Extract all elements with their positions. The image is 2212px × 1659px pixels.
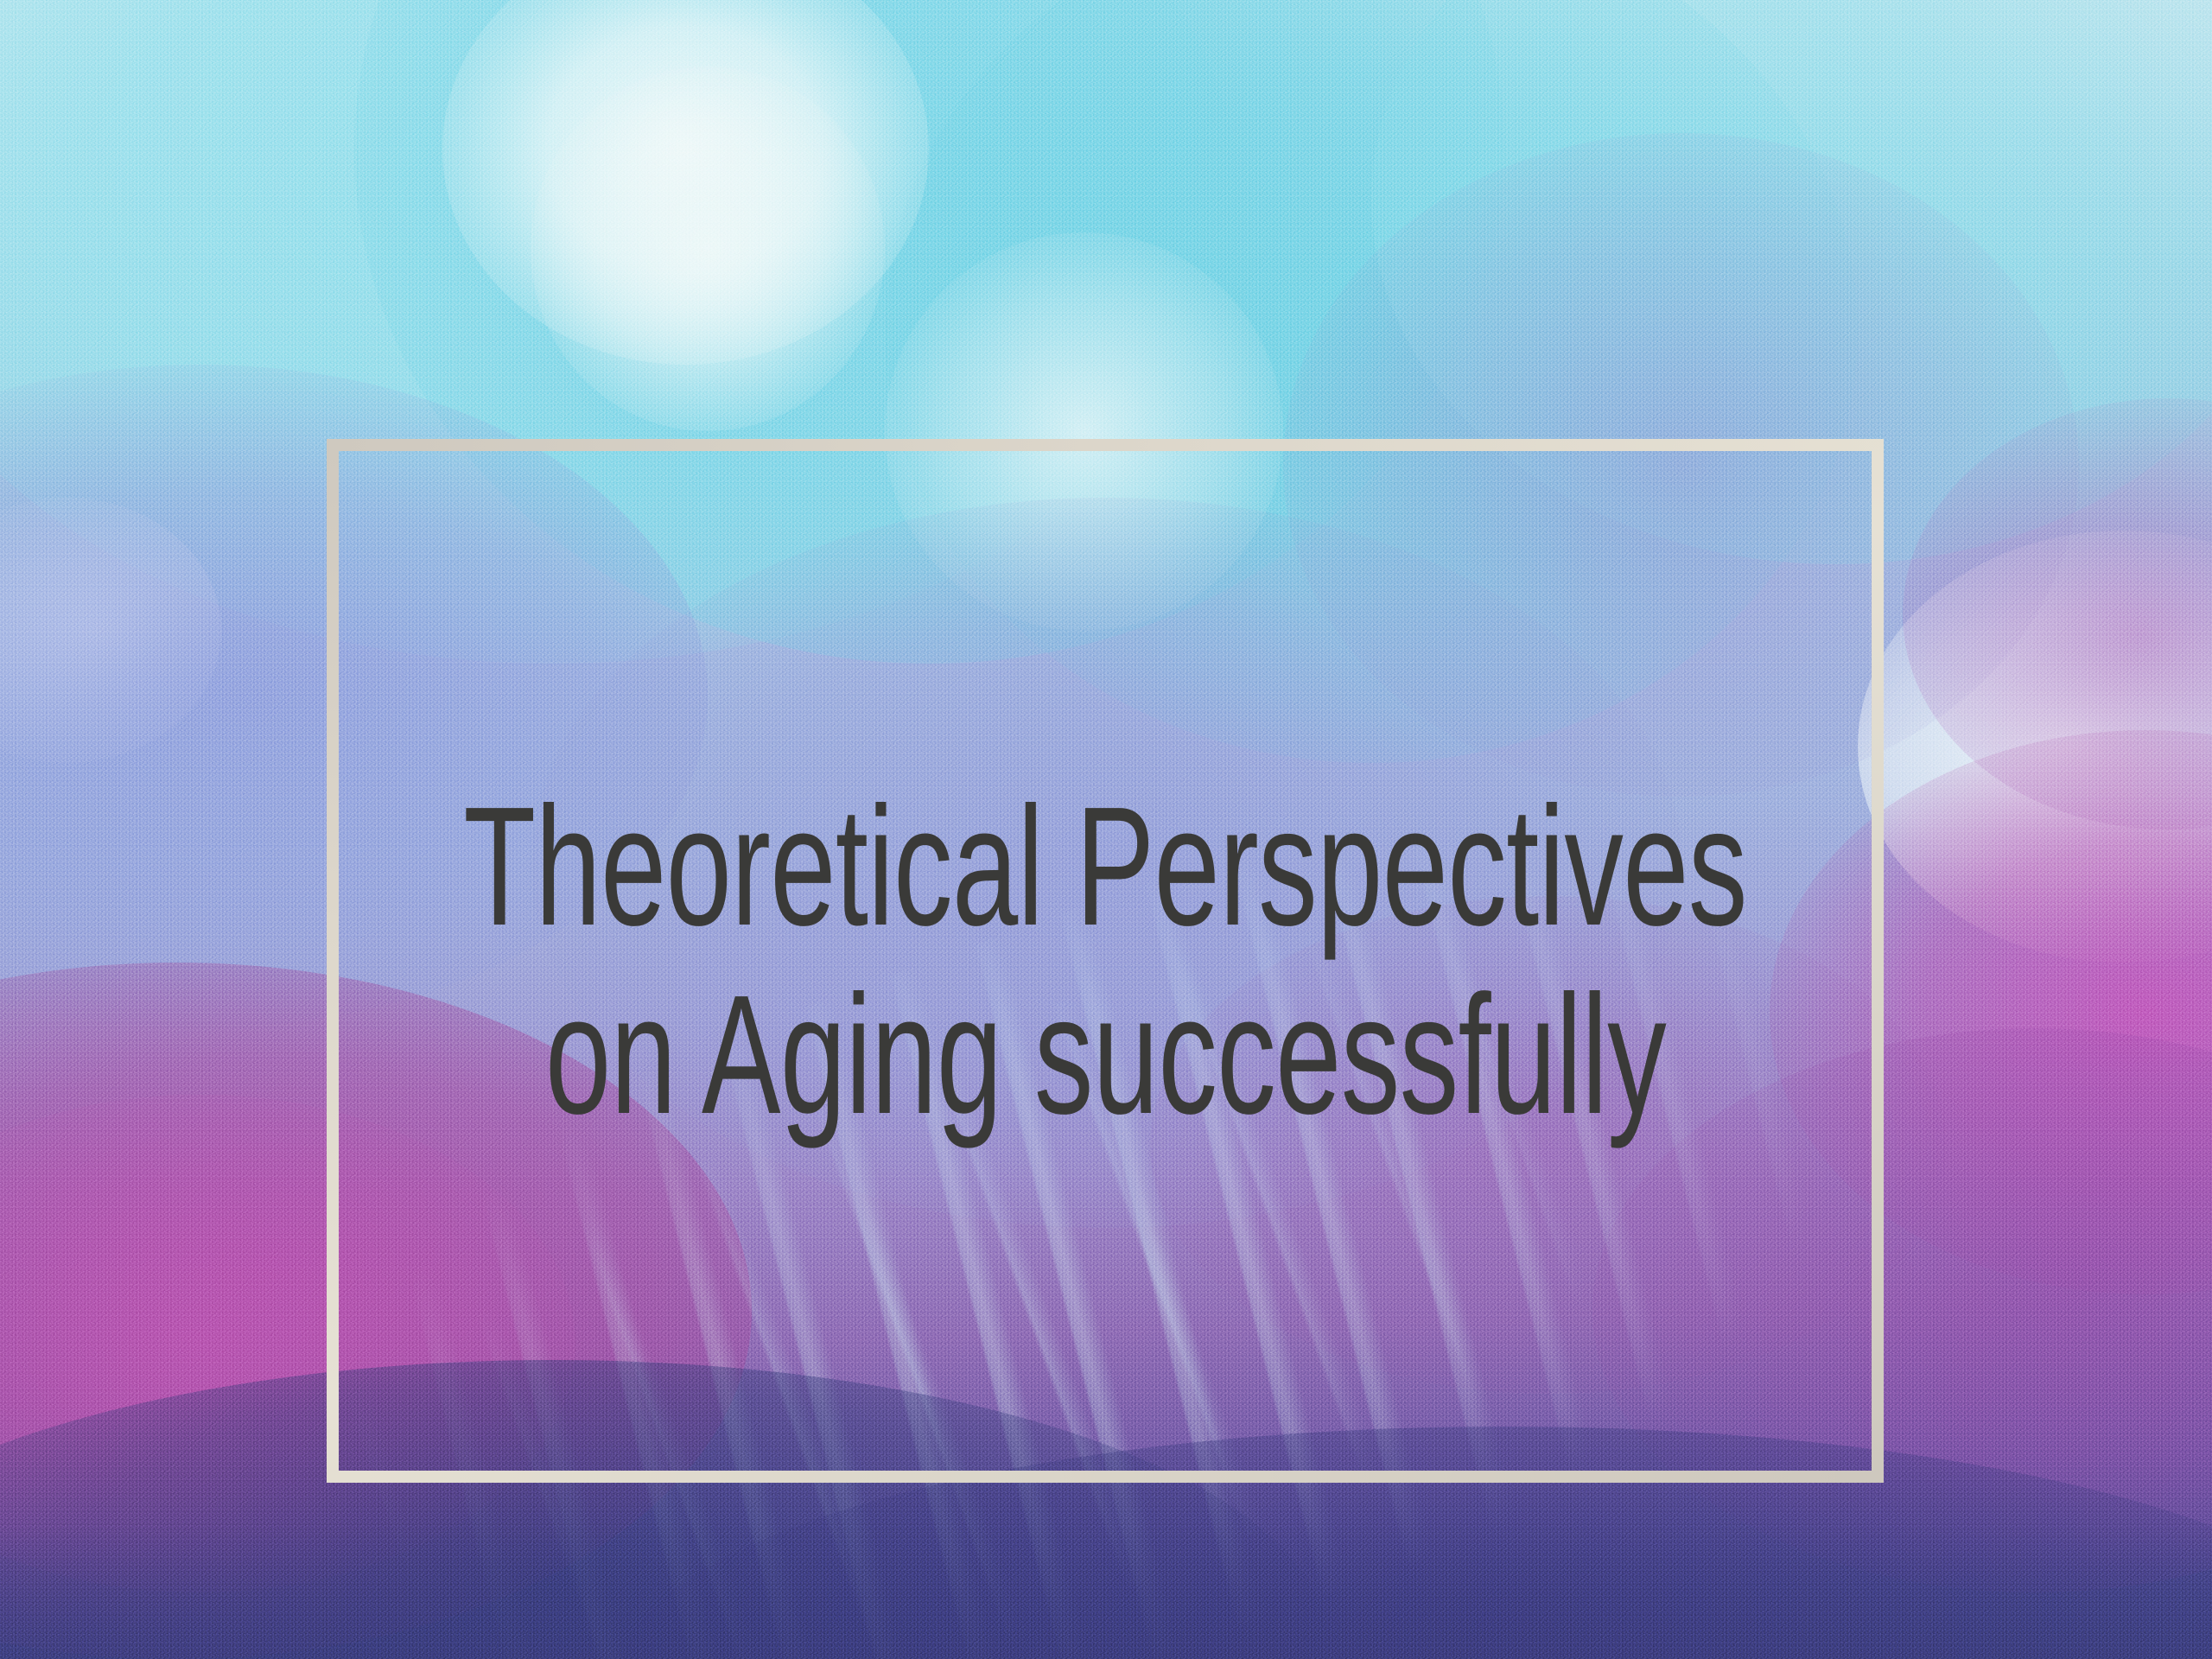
title-slide: Theoretical Perspectives on Aging succes…	[0, 0, 2212, 1659]
title-block: Theoretical Perspectives on Aging succes…	[327, 439, 1884, 1483]
page-title-line-2: on Aging successfully	[544, 969, 1665, 1141]
page-title-line-1: Theoretical Perspectives	[463, 780, 1746, 953]
